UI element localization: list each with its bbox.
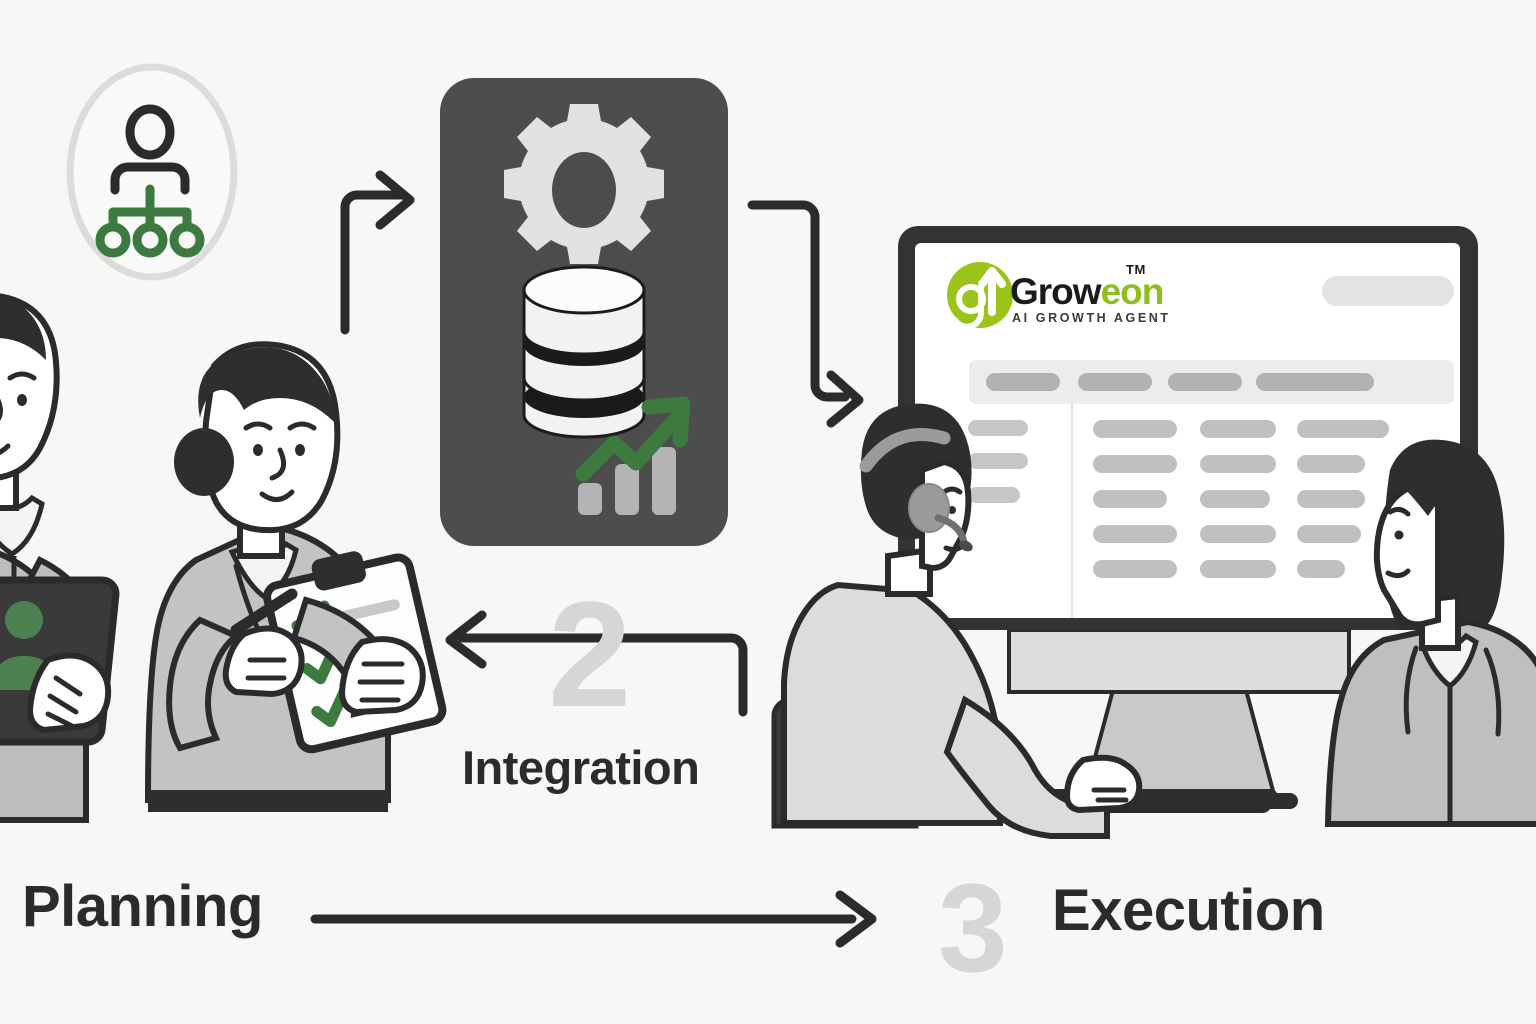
database-icon [524,267,644,437]
groweon-wordmark-grow: Grow [1010,271,1101,312]
stage-label-execution: Execution [1052,877,1325,944]
search-bar-placeholder[interactable] [1322,276,1454,306]
trademark-symbol: TM [1126,262,1146,277]
groweon-wordmark-eon: eon [1101,271,1164,312]
integration-card [440,78,728,546]
illustration-canvas: 2 Integration Planning 3 Execution Growe… [0,0,1536,1024]
table-divider [1071,404,1073,618]
org-chart-icon [70,67,234,277]
groweon-wordmark: Groweon [1010,271,1163,313]
artboard [0,0,1536,1024]
table-header-cells [986,373,1374,391]
gear-icon [504,104,664,264]
stage-label-planning: Planning [22,873,263,940]
stage-label-integration: Integration [462,740,699,795]
groweon-logo-mark [947,262,1013,328]
stage-number-3: 3 [938,857,1008,1000]
groweon-tagline: AI GROWTH AGENT [1012,311,1171,325]
stage-number-2: 2 [548,568,631,741]
